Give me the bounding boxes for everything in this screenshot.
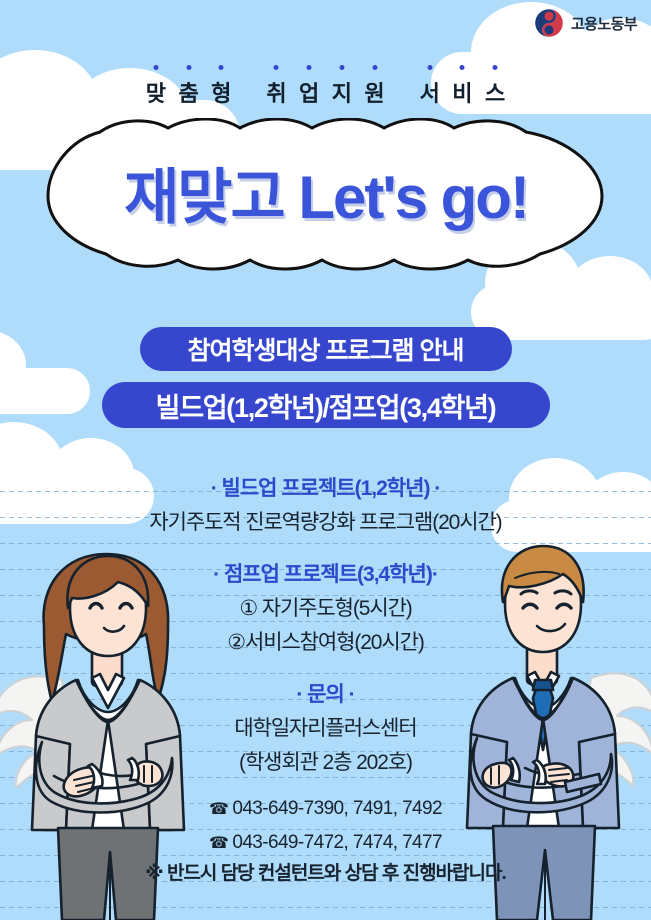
tagline-char: 맞	[146, 76, 166, 108]
telephone-icon: ☎	[209, 835, 228, 852]
banner-program-info: 참여학생대상 프로그램 안내	[140, 327, 512, 371]
section-jumpup-line-1: ① 자기주도형(5시간)	[0, 592, 651, 626]
tagline-char: 취	[266, 76, 286, 108]
title-cloud-bubble: 재맞고 Let's go!	[40, 118, 612, 273]
section-jumpup-line-2: ②서비스참여형(20시간)	[0, 626, 651, 660]
telephone-icon: ☎	[209, 801, 228, 818]
tagline-char: 스	[485, 76, 505, 108]
section-buildup-line-1: 자기주도적 진로역량강화 프로그램(20시간)	[0, 506, 651, 540]
section-jumpup: · 점프업 프로젝트(3,4학년)· ① 자기주도형(5시간) ②서비스참여형(…	[0, 558, 651, 660]
section-spacer	[0, 662, 651, 678]
contact-phone-row-2: ☎043-649-7472, 7474, 7477	[0, 826, 651, 860]
contact-location: (학생회관 2층 202호)	[0, 746, 651, 780]
section-buildup-heading: · 빌드업 프로젝트(1,2학년) ·	[0, 472, 651, 506]
contact-phone-row-1: ☎043-649-7390, 7491, 7492	[0, 792, 651, 826]
poster-title: 재맞고 Let's go!	[40, 118, 612, 273]
contact-phone-2: 043-649-7472, 7474, 7477	[232, 832, 442, 853]
tagline-char: 춤	[178, 76, 198, 108]
ministry-logo: 고용노동부	[534, 8, 637, 38]
contact-heading: · 문의 ·	[0, 678, 651, 712]
tagline-char: 비	[452, 76, 472, 108]
section-jumpup-heading: · 점프업 프로젝트(3,4학년)·	[0, 558, 651, 592]
poster-canvas: 고용노동부 맞 춤 형 취 업 지 원 서 비 스 재맞고 Let's go! …	[0, 0, 651, 920]
banner-buildup-jumpup: 빌드업(1,2학년)/점프업(3,4학년)	[102, 382, 550, 428]
tagline-char: 업	[299, 76, 319, 108]
contact-phone-1: 043-649-7390, 7491, 7492	[232, 798, 442, 819]
ministry-name: 고용노동부	[571, 13, 637, 34]
cloud-left-mid	[0, 330, 90, 410]
program-details: · 빌드업 프로젝트(1,2학년) · 자기주도적 진로역량강화 프로그램(20…	[0, 472, 651, 862]
tagline-char: 형	[211, 76, 231, 108]
tagline: 맞 춤 형 취 업 지 원 서 비 스	[0, 76, 651, 108]
tagline-char: 서	[420, 76, 440, 108]
taeguk-icon	[534, 8, 564, 38]
tagline-char: 원	[364, 76, 384, 108]
section-buildup: · 빌드업 프로젝트(1,2학년) · 자기주도적 진로역량강화 프로그램(20…	[0, 472, 651, 540]
contact-center-name: 대학일자리플러스센터	[0, 712, 651, 746]
tagline-char: 지	[332, 76, 352, 108]
footnote-notice: ※ 반드시 담당 컨설턴트와 상담 후 진행바랍니다.	[0, 858, 651, 885]
contact-spacer	[0, 780, 651, 792]
section-contact: · 문의 · 대학일자리플러스센터 (학생회관 2층 202호) ☎043-64…	[0, 678, 651, 860]
section-spacer	[0, 542, 651, 558]
